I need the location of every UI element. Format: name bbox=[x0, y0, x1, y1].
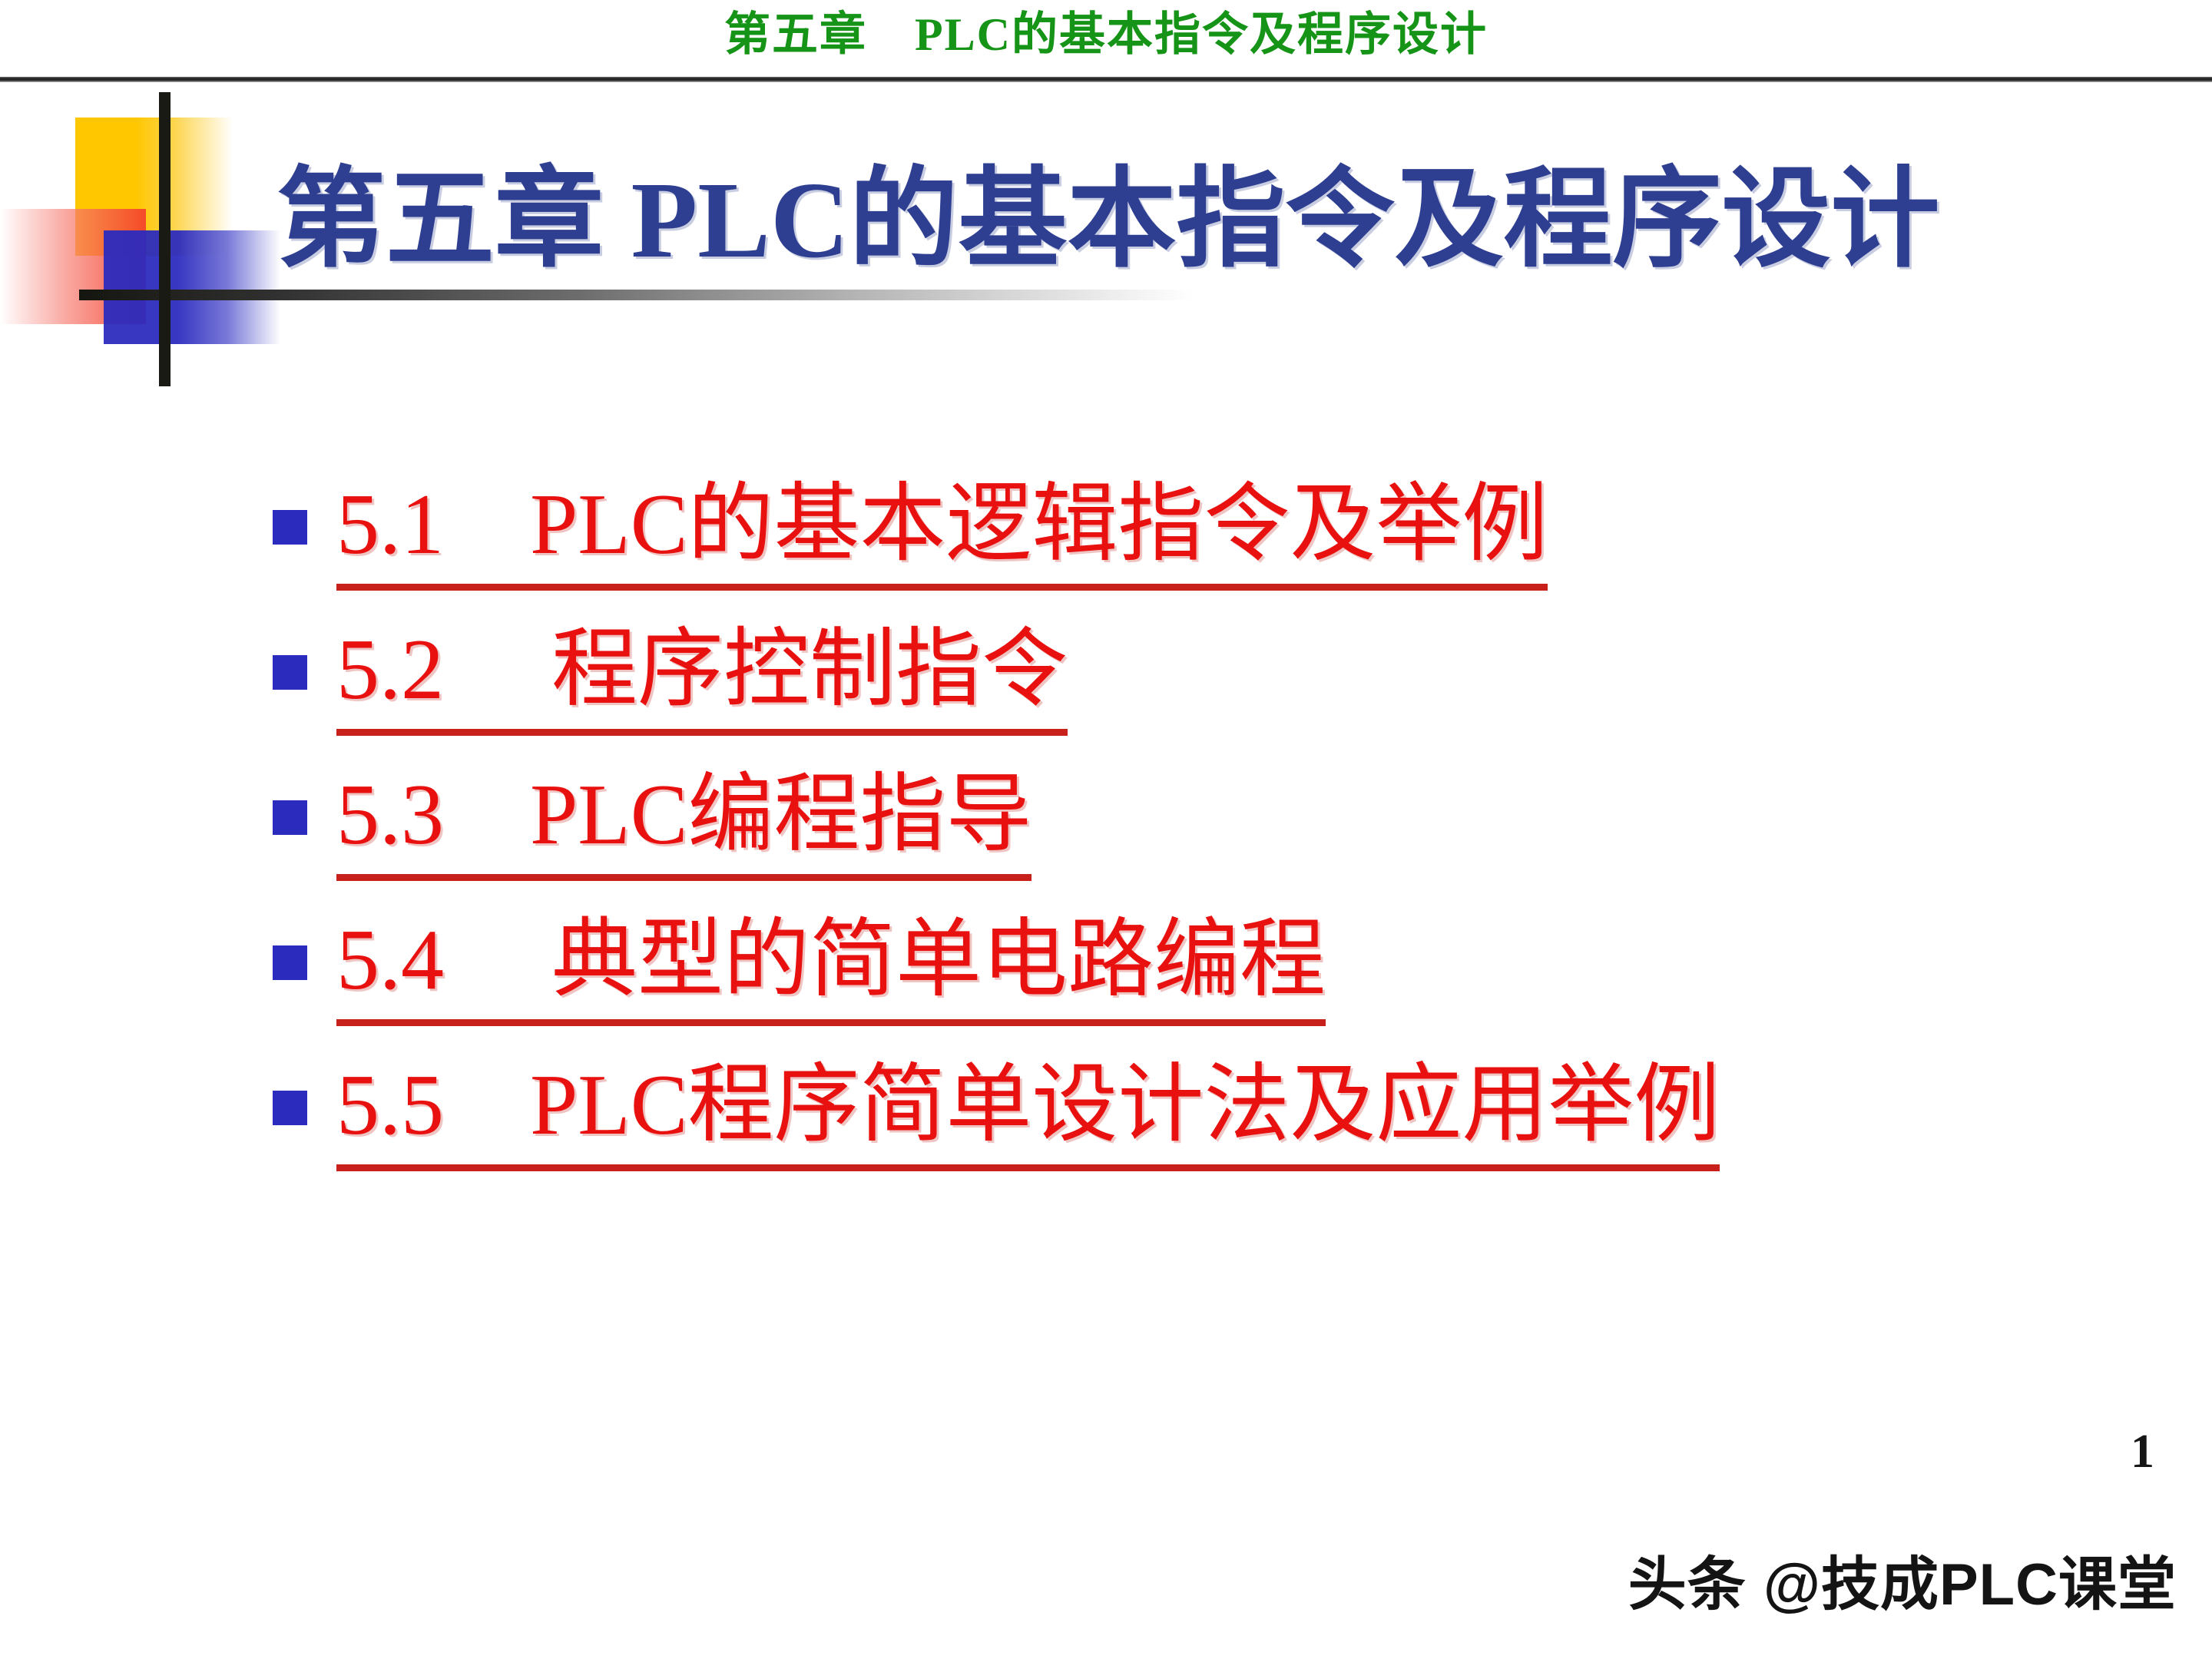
toc-item-label[interactable]: 5.1 PLC的基本逻辑指令及举例 bbox=[336, 467, 1548, 591]
toc-item-label[interactable]: 5.2 程序控制指令 bbox=[336, 612, 1068, 736]
square-bullet-icon bbox=[273, 1091, 307, 1125]
square-bullet-icon bbox=[273, 800, 307, 835]
slide-main-title: 第五章 PLC的基本指令及程序设计 bbox=[276, 151, 1940, 289]
table-of-contents-list: 5.1 PLC的基本逻辑指令及举例 5.2 程序控制指令 5.3 PLC编程指导… bbox=[273, 467, 2116, 1193]
deco-horizontal-line bbox=[79, 290, 1193, 300]
deco-vertical-line bbox=[159, 92, 171, 386]
deco-blue-square bbox=[104, 230, 280, 344]
slide-header: 第五章 PLC的基本指令及程序设计 bbox=[0, 0, 2212, 80]
toc-item-5-4[interactable]: 5.4 典型的简单电路编程 bbox=[273, 902, 2116, 1048]
square-bullet-icon bbox=[273, 655, 307, 690]
toc-item-label[interactable]: 5.5 PLC程序简单设计法及应用举例 bbox=[336, 1048, 1720, 1171]
watermark-text: 头条 @技成PLC课堂 bbox=[1628, 1548, 2177, 1622]
toc-item-label[interactable]: 5.4 典型的简单电路编程 bbox=[336, 902, 1326, 1026]
square-bullet-icon bbox=[273, 945, 307, 980]
toc-item-5-5[interactable]: 5.5 PLC程序简单设计法及应用举例 bbox=[273, 1048, 2116, 1193]
header-divider-rule bbox=[0, 77, 2212, 82]
presentation-slide: 第五章 PLC的基本指令及程序设计 第五章 PLC的基本指令及程序设计 5.1 … bbox=[0, 0, 2212, 1659]
toc-item-5-3[interactable]: 5.3 PLC编程指导 bbox=[273, 757, 2116, 902]
toc-item-5-2[interactable]: 5.2 程序控制指令 bbox=[273, 612, 2116, 757]
toc-item-label[interactable]: 5.3 PLC编程指导 bbox=[336, 757, 1031, 881]
toc-item-5-1[interactable]: 5.1 PLC的基本逻辑指令及举例 bbox=[273, 467, 2116, 612]
header-chapter-title: 第五章 PLC的基本指令及程序设计 bbox=[0, 5, 2212, 65]
page-number: 1 bbox=[2131, 1425, 2154, 1479]
square-bullet-icon bbox=[273, 510, 307, 545]
